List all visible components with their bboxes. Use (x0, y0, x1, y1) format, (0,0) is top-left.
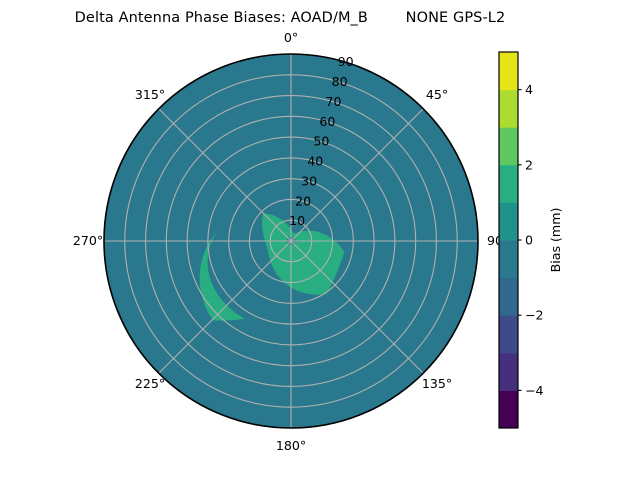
colorbar-band (499, 165, 518, 203)
colorbar-tick-label: −4 (525, 383, 544, 398)
angular-tick-label: 135° (422, 376, 452, 391)
radial-tick-label: 30 (301, 173, 317, 188)
angular-tick-label: 45° (426, 87, 448, 102)
colorbar-band (499, 52, 518, 90)
colorbar-tick-label: −2 (525, 308, 544, 323)
radial-tick-label: 50 (313, 134, 329, 149)
polar-grid (104, 54, 478, 428)
radial-tick-label: 40 (307, 154, 323, 169)
colorbar-band (499, 278, 518, 316)
figure-title: Delta Antenna Phase Biases: AOAD/M_B NON… (0, 10, 580, 26)
colorbar-band (499, 127, 518, 165)
colorbar-axis-label: Bias (mm) (548, 208, 563, 273)
angular-tick-label: 315° (135, 87, 165, 102)
colorbar-band (499, 353, 518, 391)
colorbar-tick-label: 2 (525, 157, 533, 172)
radial-tick-label: 80 (332, 74, 348, 89)
radial-tick-label: 90 (338, 54, 354, 69)
radial-tick-label: 60 (319, 114, 335, 129)
angular-tick-label: 0° (284, 30, 298, 45)
angular-tick-label: 270° (73, 233, 103, 248)
colorbar: −4−2024Bias (mm) (499, 52, 563, 429)
radial-tick-label: 10 (289, 213, 305, 228)
matplotlib-figure: Delta Antenna Phase Biases: AOAD/M_B NON… (0, 0, 640, 480)
polar-plot-canvas: 102030405060708090 0°45°90135°180°225°27… (0, 0, 640, 480)
angular-tick-label: 225° (135, 376, 165, 391)
colorbar-band (499, 240, 518, 278)
colorbar-tick-label: 0 (525, 233, 533, 248)
colorbar-band (499, 390, 518, 428)
radial-tick-label: 70 (325, 94, 341, 109)
angular-tick-label: 180° (276, 438, 306, 453)
colorbar-band (499, 315, 518, 353)
colorbar-tick-label: 4 (525, 82, 533, 97)
colorbar-band (499, 90, 518, 128)
colorbar-band (499, 202, 518, 240)
radial-tick-label: 20 (295, 193, 311, 208)
